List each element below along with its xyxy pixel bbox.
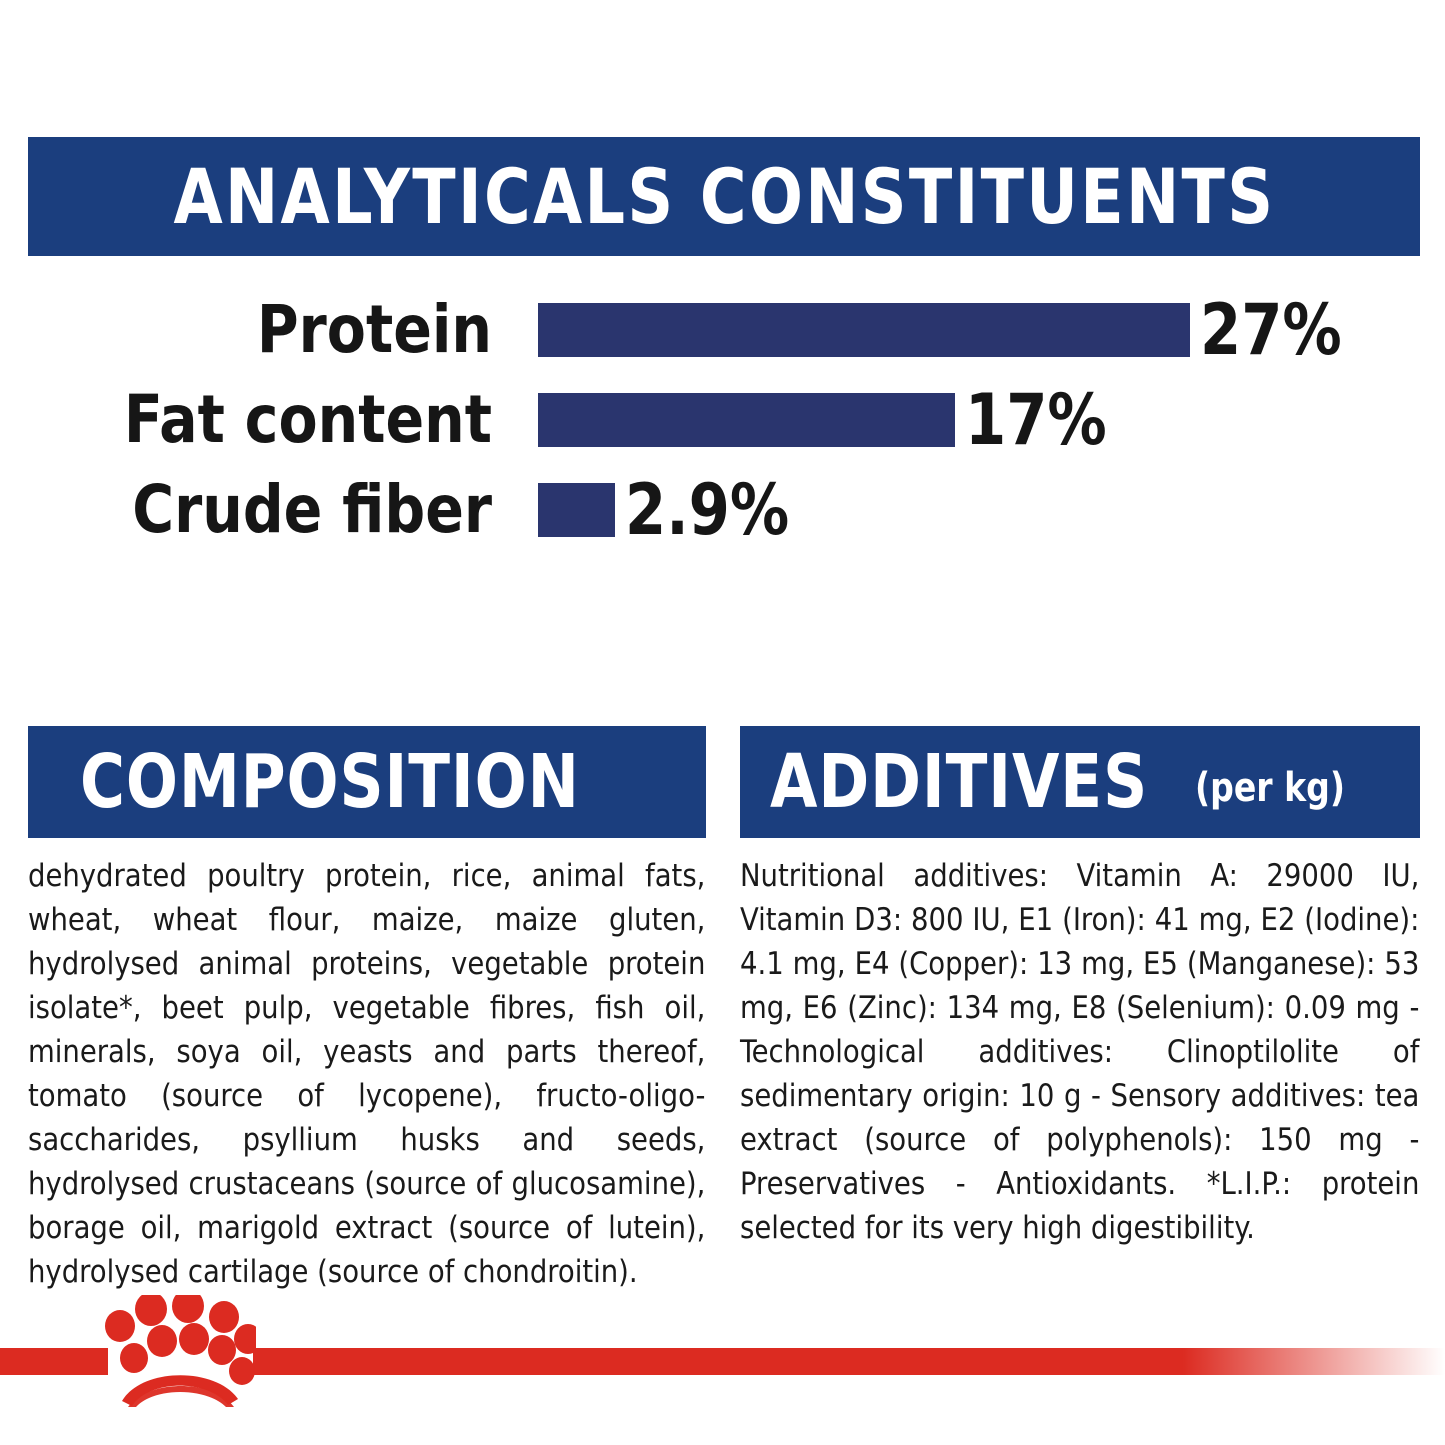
chart-bar-protein (538, 303, 1190, 357)
composition-section: COMPOSITION dehydrated poultry protein, … (28, 726, 706, 1294)
chart-label-crude-fiber: Crude fiber (20, 477, 492, 543)
additives-section: ADDITIVES (per kg) Nutritional additives… (740, 726, 1420, 1250)
chart-value-crude-fiber: 2.9% (625, 475, 789, 545)
chart-bar-fat-content (538, 393, 955, 447)
chart-row-fat-content: Fat content 17% (0, 375, 1445, 465)
chart-bar-group-protein: 27% (538, 303, 1351, 357)
analyticals-bar-chart: Protein 27% Fat content 17% Crude fiber … (0, 285, 1445, 555)
crown-icon (98, 1295, 256, 1407)
chart-value-fat-content: 17% (965, 385, 1107, 455)
royal-canin-crown-logo (98, 1295, 256, 1412)
chart-label-protein: Protein (20, 297, 492, 363)
composition-title: COMPOSITION (80, 745, 580, 819)
footer-stripe-left (0, 1348, 108, 1375)
chart-row-crude-fiber: Crude fiber 2.9% (0, 465, 1445, 555)
footer (0, 1295, 1445, 1445)
analyticals-constituents-header: ANALYTICALS CONSTITUENTS (28, 137, 1420, 256)
composition-header: COMPOSITION (28, 726, 706, 838)
composition-body-text: dehydrated poultry protein, rice, animal… (28, 854, 705, 1294)
chart-bar-crude-fiber (538, 483, 615, 537)
analyticals-constituents-title: ANALYTICALS CONSTITUENTS (173, 159, 1275, 235)
additives-title: ADDITIVES (770, 745, 1148, 819)
chart-label-fat-content: Fat content (20, 387, 492, 453)
footer-stripe-right (253, 1348, 1445, 1375)
chart-bar-group-fat-content: 17% (538, 393, 1116, 447)
additives-body-text: Nutritional additives: Vitamin A: 29000 … (740, 854, 1419, 1250)
chart-row-protein: Protein 27% (0, 285, 1445, 375)
additives-per-kg-label: (per kg) (1195, 768, 1345, 808)
chart-value-protein: 27% (1200, 295, 1342, 365)
chart-bar-group-crude-fiber: 2.9% (538, 483, 800, 537)
additives-header: ADDITIVES (per kg) (740, 726, 1420, 838)
